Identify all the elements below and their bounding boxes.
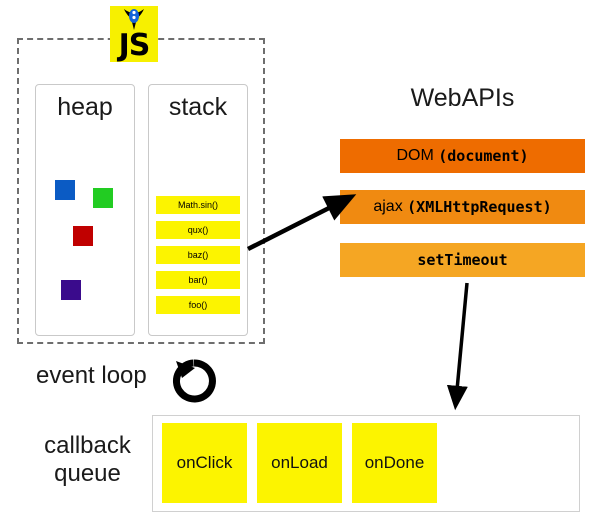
- stack-title: stack: [149, 93, 247, 122]
- circular-arrow-icon: [168, 357, 220, 407]
- callback-queue-item: onLoad: [257, 423, 342, 503]
- callback-queue-label: callback queue: [30, 432, 145, 488]
- ajax-api-plain-text: ajax: [373, 198, 407, 216]
- dom-api-plain-text: DOM: [396, 147, 438, 165]
- heap-object-blue: [55, 180, 75, 200]
- dom-api: DOM (document): [340, 139, 585, 173]
- heap-panel: heap: [35, 84, 135, 336]
- heap-object-purple: [61, 280, 81, 300]
- settimeout-api-mono-text: setTimeout: [417, 251, 507, 269]
- webapis-to-queue-arrow: [457, 283, 467, 390]
- dom-api-mono-text: (document): [438, 147, 528, 165]
- stack-frame: qux(): [156, 221, 240, 239]
- ajax-api: ajax (XMLHttpRequest): [340, 190, 585, 224]
- settimeout-api: setTimeout: [340, 243, 585, 277]
- stack-frame: baz(): [156, 246, 240, 264]
- heap-object-red: [73, 226, 93, 246]
- ajax-api-mono-text: (XMLHttpRequest): [407, 198, 552, 216]
- stack-frame: bar(): [156, 271, 240, 289]
- js-logo-text: JS: [110, 31, 158, 61]
- callback-queue-label-line2: queue: [30, 460, 145, 488]
- event-loop-label: event loop: [36, 362, 147, 390]
- heap-object-green: [93, 188, 113, 208]
- stack-frame: Math.sin(): [156, 196, 240, 214]
- callback-queue-item: onDone: [352, 423, 437, 503]
- heap-title: heap: [36, 93, 134, 122]
- webapis-title: WebAPIs: [340, 84, 585, 113]
- javascript-logo: JS: [110, 6, 158, 62]
- callback-queue-label-line1: callback: [30, 432, 145, 460]
- diagram-canvas: heap stack Math.sin()qux()baz()bar()foo(…: [0, 0, 601, 527]
- callback-queue-item: onClick: [162, 423, 247, 503]
- stack-frame: foo(): [156, 296, 240, 314]
